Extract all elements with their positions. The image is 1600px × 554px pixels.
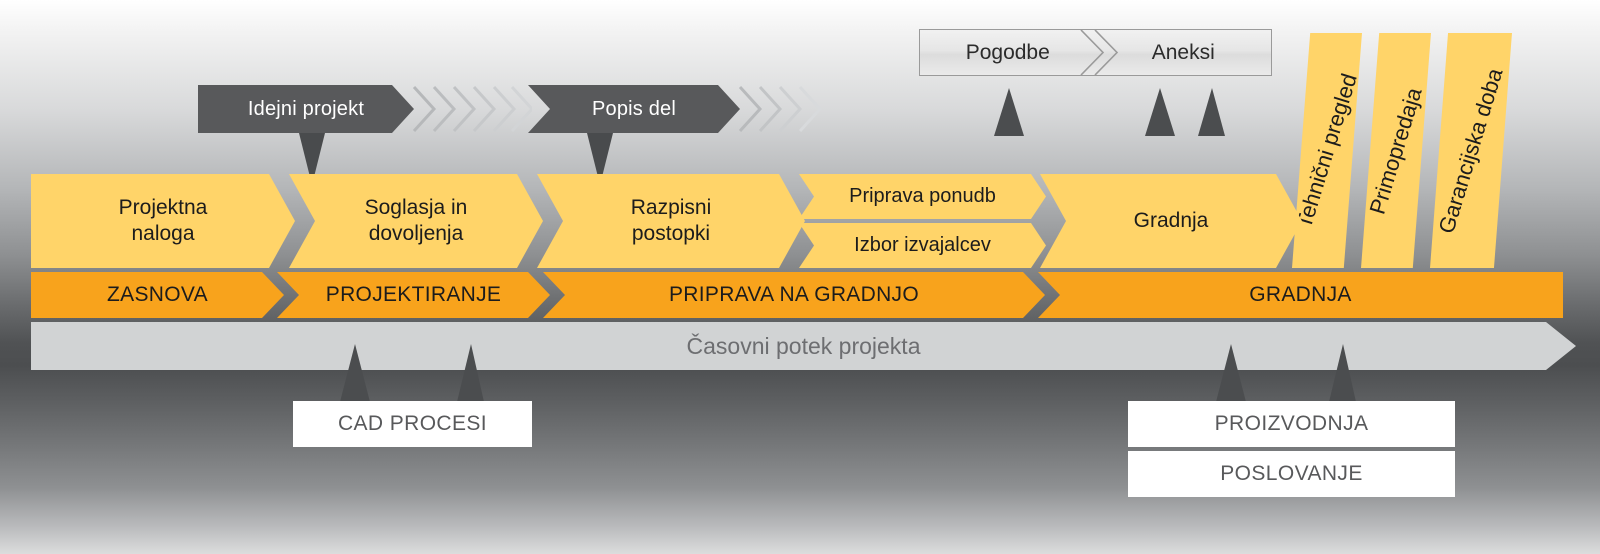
connector-arrow-up-aneksi-2 [1194, 88, 1228, 136]
activity-label: Soglasja in dovoljenja [365, 195, 468, 246]
callout-proizvodnja[interactable]: PROIZVODNJA [1128, 401, 1455, 447]
phase-label: ZASNOVA [107, 283, 208, 307]
tail-activity-label: Garancijska doba [1434, 65, 1509, 236]
tail-activity-label: Tehnični pregled [1291, 70, 1363, 231]
timeline-label: Časovni potek projekta [687, 333, 921, 360]
contracts-item-label: Pogodbe [966, 41, 1050, 65]
callout-poslovanje[interactable]: POSLOVANJE [1128, 451, 1455, 497]
phase-zasnova[interactable]: ZASNOVA [31, 272, 284, 318]
design-step-label: Popis del [592, 98, 676, 121]
connector-arrow-up-cad-1 [336, 344, 374, 402]
callout-cad-procesi[interactable]: CAD PROCESI [293, 401, 532, 447]
connector-arrow-up-pogodbe [990, 88, 1028, 136]
contracts-item-label: Aneksi [1152, 41, 1215, 65]
contracts-box[interactable]: Pogodbe Aneksi [919, 29, 1272, 76]
tail-activity-tehnicni-pregled[interactable]: Tehnični pregled [1292, 33, 1362, 268]
phase-label: GRADNJA [1249, 283, 1351, 307]
tail-activity-primopredaja[interactable]: Primopredaja [1361, 33, 1431, 268]
callout-label: PROIZVODNJA [1215, 412, 1369, 436]
tail-activity-garancijska-doba[interactable]: Garancijska doba [1430, 33, 1512, 268]
callout-label: POSLOVANJE [1220, 462, 1363, 486]
phase-label: PRIPRAVA NA GRADNJO [669, 283, 919, 307]
activity-priprava-ponudb[interactable]: Priprava ponudb [799, 174, 1046, 219]
contracts-item-aneksi[interactable]: Aneksi [1096, 30, 1272, 75]
connector-arrow-up-proizvodnja [1212, 344, 1250, 402]
tail-activity-label: Primopredaja [1364, 84, 1427, 217]
design-step-ghost-chevrons-1 [412, 85, 532, 133]
design-step-ghost-chevrons-2 [738, 85, 830, 133]
phase-priprava-na-gradnjo[interactable]: PRIPRAVA NA GRADNJO [543, 272, 1045, 318]
contracts-item-pogodbe[interactable]: Pogodbe [920, 30, 1096, 75]
phase-projektiranje[interactable]: PROJEKTIRANJE [277, 272, 550, 318]
phase-gradnja[interactable]: GRADNJA [1038, 272, 1563, 318]
activity-label: Razpisni postopki [631, 195, 712, 246]
connector-arrow-up-poslovanje [1325, 344, 1359, 402]
activity-soglasja-in-dovoljenja[interactable]: Soglasja in dovoljenja [289, 174, 543, 268]
activity-label: Izbor izvajalcev [854, 233, 991, 257]
design-step-idejni-projekt[interactable]: Idejni projekt [198, 85, 414, 133]
activity-izbor-izvajalcev[interactable]: Izbor izvajalcev [799, 223, 1046, 268]
activity-razpisni-postopki[interactable]: Razpisni postopki [537, 174, 805, 268]
diagram-canvas: Idejni projekt Popis del [0, 0, 1600, 554]
activity-label: Projektna naloga [119, 195, 208, 246]
phase-label: PROJEKTIRANJE [326, 283, 501, 307]
activity-label: Gradnja [1134, 208, 1209, 234]
design-step-label: Idejni projekt [248, 98, 364, 121]
design-step-popis-del[interactable]: Popis del [528, 85, 740, 133]
activity-gradnja[interactable]: Gradnja [1040, 174, 1302, 268]
connector-arrow-up-cad-2 [453, 344, 487, 402]
activity-label: Priprava ponudb [849, 184, 996, 208]
activity-projektna-naloga[interactable]: Projektna naloga [31, 174, 295, 268]
callout-label: CAD PROCESI [338, 412, 487, 436]
connector-arrow-up-aneksi-1 [1141, 88, 1179, 136]
